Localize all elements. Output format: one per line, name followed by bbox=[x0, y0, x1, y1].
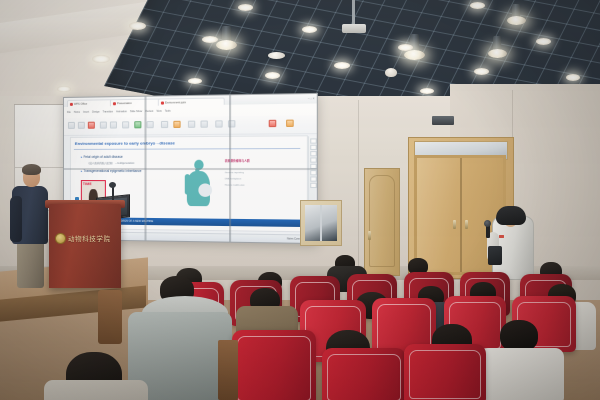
podium-institution-text: 动物科技学院 bbox=[68, 233, 111, 243]
downlight-icon bbox=[129, 22, 146, 30]
podium-nameplate: 动物科技学院 bbox=[55, 230, 116, 246]
ribbon-tab-2[interactable]: Insert bbox=[83, 111, 89, 114]
cut-icon[interactable] bbox=[78, 122, 85, 129]
slide-thumbnail[interactable] bbox=[310, 183, 317, 188]
bullet-list-icon[interactable] bbox=[134, 121, 141, 128]
layout-icon[interactable] bbox=[110, 121, 117, 128]
downlight-icon bbox=[265, 72, 280, 79]
cloud-icon[interactable] bbox=[286, 120, 294, 127]
font-icon[interactable] bbox=[122, 121, 129, 128]
questioner-hood bbox=[496, 206, 526, 225]
downlight-icon bbox=[202, 36, 218, 43]
wall-mounted-speaker bbox=[432, 116, 454, 125]
slide-bullet-0-sub: （成人疾病的胎儿起源）→multigeneration bbox=[87, 161, 135, 165]
time-logo-text: TIME bbox=[83, 182, 92, 186]
audience-coat bbox=[44, 380, 148, 400]
projector-mount-rod bbox=[352, 0, 355, 26]
seat-armrest bbox=[218, 340, 238, 400]
office-tab-label: WPS Office bbox=[74, 102, 87, 105]
ceiling-projector bbox=[342, 24, 366, 33]
speaker-trousers bbox=[17, 240, 44, 288]
share-icon[interactable] bbox=[269, 120, 277, 127]
seat[interactable] bbox=[322, 348, 406, 400]
videowall-seam bbox=[64, 168, 317, 170]
downlight-icon bbox=[302, 26, 317, 33]
speaker-hair bbox=[22, 164, 41, 175]
slide-bullet-0: Fetal origin of adult disease bbox=[81, 155, 123, 159]
downlight-icon bbox=[188, 78, 202, 84]
booth-glass bbox=[305, 205, 337, 241]
ribbon-tab-6[interactable]: Slide Show bbox=[130, 110, 142, 113]
door-handle-icon[interactable] bbox=[453, 220, 456, 229]
slide-title: Environmental exposure to early embryo→d… bbox=[75, 140, 175, 146]
ceiling-speaker-dome bbox=[385, 68, 397, 77]
downlight-icon bbox=[334, 62, 350, 69]
seat[interactable] bbox=[404, 344, 486, 400]
spotlight-head-icon bbox=[404, 50, 425, 60]
podium-microphone-head-icon bbox=[109, 182, 116, 188]
spotlight-head-icon bbox=[507, 16, 526, 25]
animation-icon[interactable] bbox=[200, 120, 207, 127]
slide-side-note-0: Genomic imprinting bbox=[225, 172, 244, 174]
podium: 动物科技学院 bbox=[49, 204, 121, 288]
downlight-icon bbox=[238, 4, 253, 11]
office-tab-label: Environment.pptx bbox=[165, 101, 186, 104]
office-toolbar[interactable] bbox=[64, 115, 317, 136]
slide-thumbnail[interactable] bbox=[310, 145, 317, 150]
wall-seam bbox=[358, 100, 359, 276]
slide-thumbnail[interactable] bbox=[310, 138, 317, 143]
projection-booth-window bbox=[300, 200, 342, 246]
side-door[interactable] bbox=[364, 168, 400, 276]
figure-belly bbox=[198, 183, 212, 196]
downlight-icon bbox=[474, 68, 489, 75]
ribbon-tab-4[interactable]: Transition bbox=[103, 110, 114, 113]
find-icon[interactable] bbox=[215, 120, 222, 127]
paste-icon[interactable] bbox=[68, 122, 75, 129]
wps-logo-icon bbox=[161, 101, 164, 104]
downlight-icon bbox=[566, 74, 580, 81]
downlight-icon bbox=[420, 88, 434, 94]
downlight-icon bbox=[398, 44, 413, 51]
figure-arm bbox=[185, 174, 190, 195]
audience-coat bbox=[480, 348, 564, 400]
align-icon[interactable] bbox=[147, 121, 154, 128]
speaker-arm bbox=[10, 196, 22, 242]
slide-thumbnail[interactable] bbox=[310, 151, 317, 156]
door-handle-icon[interactable] bbox=[465, 220, 468, 229]
door-center-split bbox=[460, 158, 462, 272]
fill-color-icon[interactable] bbox=[173, 121, 180, 128]
ribbon-tab-3[interactable]: Design bbox=[92, 111, 99, 114]
spotlight-head-icon bbox=[216, 40, 237, 50]
ribbon-tab-1[interactable]: Home bbox=[74, 111, 80, 114]
downlight-icon bbox=[57, 86, 71, 92]
seat[interactable] bbox=[232, 330, 316, 400]
door-handle-icon[interactable] bbox=[368, 231, 371, 240]
seat-armrest bbox=[98, 290, 122, 344]
smoke-detector-icon bbox=[268, 52, 285, 59]
shape-icon[interactable] bbox=[161, 121, 168, 128]
wps-logo-icon bbox=[70, 102, 73, 105]
slide-thumbnail[interactable] bbox=[310, 170, 317, 175]
new-slide-icon[interactable] bbox=[100, 122, 107, 129]
microphone-head-icon bbox=[484, 220, 491, 227]
slide-side-note-2: Histone modification bbox=[225, 185, 245, 187]
ribbon-tab-0[interactable]: File bbox=[67, 111, 71, 114]
coat-badge bbox=[499, 235, 504, 238]
downlight-icon bbox=[470, 2, 485, 9]
wps-logo-icon bbox=[113, 102, 116, 105]
arrange-icon[interactable] bbox=[188, 121, 195, 128]
booth-mullion bbox=[320, 205, 322, 241]
ribbon-tab-8[interactable]: View bbox=[156, 110, 161, 113]
questioner-phone bbox=[488, 246, 502, 265]
window-controls[interactable]: – □ ✕ bbox=[308, 97, 315, 100]
slide-side-note-1: DNA methylation bbox=[225, 178, 241, 180]
downlight-icon bbox=[536, 38, 551, 45]
format-brush-icon[interactable] bbox=[88, 122, 95, 129]
ribbon-tab-5[interactable]: Animation bbox=[116, 110, 127, 113]
downlight-icon bbox=[92, 55, 110, 63]
office-tab-label: Presentation bbox=[117, 101, 132, 104]
spotlight-head-icon bbox=[488, 49, 507, 58]
slide-thumbnail[interactable] bbox=[310, 157, 317, 162]
university-seal-icon bbox=[55, 233, 66, 244]
lecture-hall-photo: WPS Office Presentation Environment.pptx… bbox=[0, 0, 600, 400]
ribbon-tab-9[interactable]: Tools bbox=[165, 110, 171, 113]
slide-thumbnail[interactable] bbox=[310, 176, 317, 181]
door-panel bbox=[369, 175, 395, 267]
slide-title-rule bbox=[74, 148, 300, 150]
